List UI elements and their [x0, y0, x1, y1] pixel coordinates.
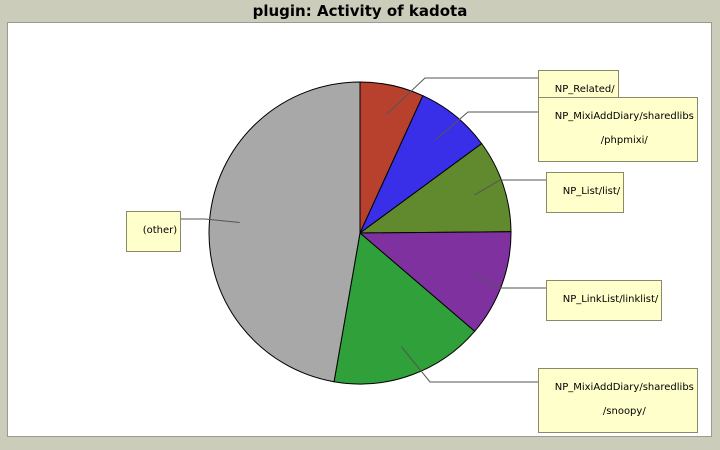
slice-label-np-snoopy[interactable]: NP_MixiAddDiary/sharedlibs /snoopy/: [538, 368, 698, 433]
slice-label-text: NP_LinkList/linklist/: [563, 294, 659, 305]
slice-label-np-linklist[interactable]: NP_LinkList/linklist/: [546, 280, 662, 321]
slice-label-text: NP_Related/: [555, 84, 615, 95]
slice-label-np-list[interactable]: NP_List/list/: [546, 172, 624, 213]
slice-label-text-line2: /snoopy/: [603, 406, 646, 417]
slice-label-text-line1: NP_MixiAddDiary/sharedlibs: [555, 382, 694, 393]
slice-label-other[interactable]: (other): [126, 211, 181, 252]
slice-label-text-line2: /phpmixi/: [601, 135, 648, 146]
page-title: plugin: Activity of kadota: [0, 2, 720, 20]
slice-label-text: NP_List/list/: [563, 186, 620, 197]
slice-label-text: (other): [143, 225, 177, 236]
chart-window: plugin: Activity of kadota NP_Related/ N…: [0, 0, 720, 450]
slice-label-np-phpmixi[interactable]: NP_MixiAddDiary/sharedlibs /phpmixi/: [538, 97, 698, 162]
slice-label-text-line1: NP_MixiAddDiary/sharedlibs: [555, 111, 694, 122]
